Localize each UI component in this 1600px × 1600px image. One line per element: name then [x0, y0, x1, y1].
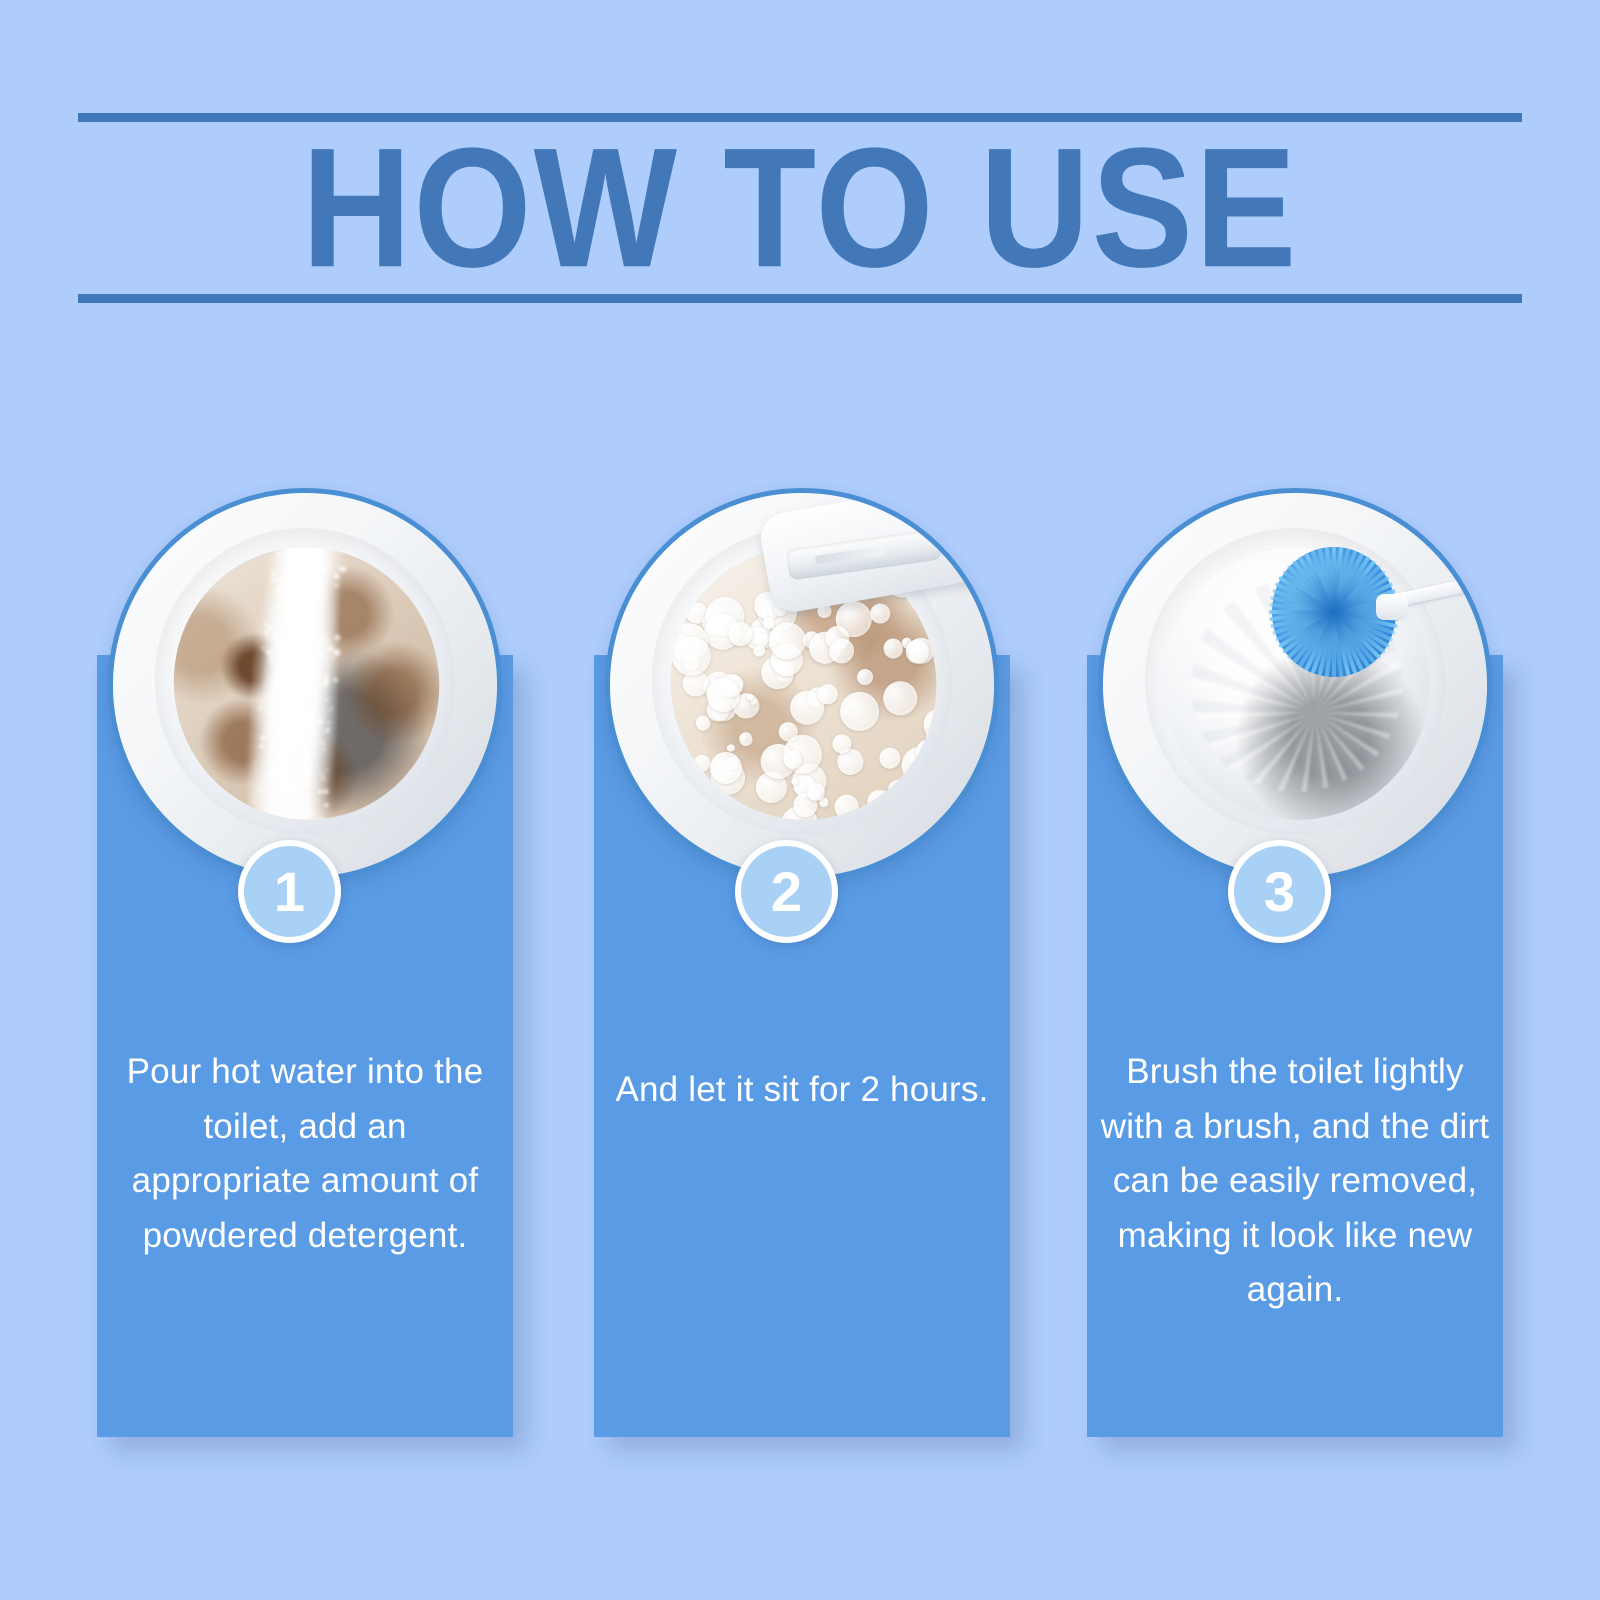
toilet-brush-icon — [1272, 547, 1472, 678]
step-card-3: Brush the toilet lightly with a brush, a… — [1087, 0, 1503, 1600]
step-description-3: Brush the toilet lightly with a brush, a… — [1099, 1045, 1491, 1318]
step-description-1: Pour hot water into the toilet, add an a… — [109, 1045, 501, 1263]
step-number-badge-3: 3 — [1228, 840, 1331, 943]
step-number-badge-1: 1 — [238, 840, 341, 943]
infographic-page: HOW TO USE Pour hot water into the toile… — [0, 0, 1600, 1600]
step-image-wrap-1 — [97, 478, 513, 892]
toilet-foam-icon — [605, 488, 999, 882]
step-image-wrap-3 — [1087, 478, 1503, 892]
step-image-wrap-2 — [594, 478, 1010, 892]
steps-container: Pour hot water into the toilet, add an a… — [0, 0, 1600, 1600]
step-card-1: Pour hot water into the toilet, add an a… — [97, 0, 513, 1600]
step-number-badge-2: 2 — [735, 840, 838, 943]
step-card-2: And let it sit for 2 hours. — [594, 0, 1010, 1600]
toilet-dirty-icon — [108, 488, 502, 882]
toilet-clean-brush-icon — [1098, 488, 1492, 882]
step-description-2: And let it sit for 2 hours. — [606, 1063, 998, 1118]
